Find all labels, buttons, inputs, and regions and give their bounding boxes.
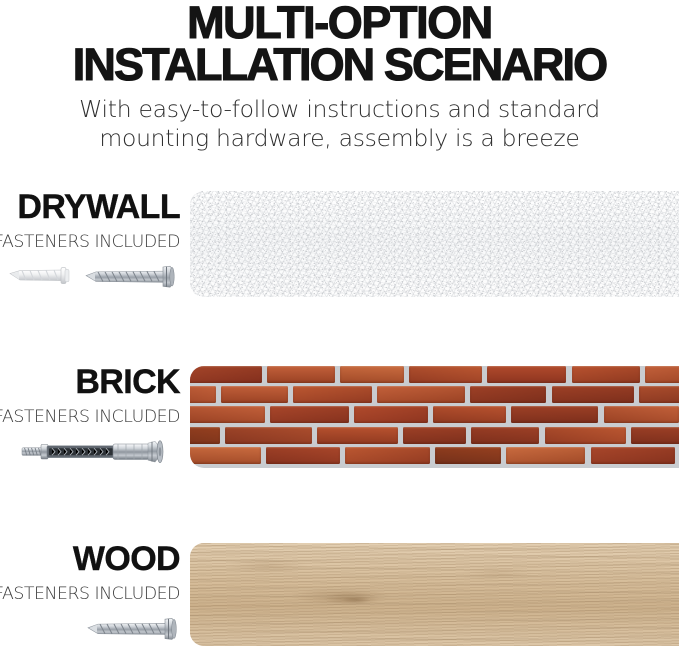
brick-unit [354,406,428,423]
wood-hardware-svg [0,610,182,648]
surface-swatch-drywall [190,191,679,297]
brick-unit [471,427,539,444]
brick-unit [552,386,634,403]
material-section-brick: BRICK FASTENERS INCLUDED [0,363,679,473]
brick-row [190,366,673,384]
brick-unit [572,366,640,383]
brick-unit [511,406,598,423]
wood-label-group: WOOD FASTENERS INCLUDED [0,540,184,650]
brick-unit [267,366,335,383]
brick-unit [190,427,220,444]
brick-row [190,405,673,425]
brick-unit [435,447,501,464]
brick-row [190,446,673,466]
brick-hardware-svg [0,433,182,471]
brick-unit [487,366,566,383]
surface-swatch-wood [190,543,679,646]
brick-unit [604,406,679,423]
hardware-group-brick [0,433,182,471]
surface-swatch-brick [190,366,679,468]
fasteners-included-wood: FASTENERS INCLUDED [0,584,180,604]
brick-unit [190,406,265,423]
brick-unit [377,386,465,403]
hardware-group-drywall [0,258,182,296]
wood-screw-icon [88,618,176,639]
page-subtitle: With easy-to-follow instructions and sta… [0,95,679,153]
drywall-hardware-svg [0,258,182,296]
brick-unit [645,366,679,383]
drywall-texture [190,191,679,297]
brick-texture [190,366,679,468]
material-name-wood: WOOD [73,540,180,578]
wall-anchor-icon [10,268,69,284]
brick-unit [506,447,585,464]
material-name-drywall: DRYWALL [17,188,180,226]
brick-unit [345,447,430,464]
page-title-line-1: MULTI-OPTION [6,2,673,44]
brick-row [190,384,637,404]
brick-unit [403,427,466,444]
brick-unit [225,427,312,444]
drywall-label-group: DRYWALL FASTENERS INCLUDED [0,188,184,298]
brick-unit [190,386,216,403]
sleeve-anchor-bolt-icon [22,441,163,463]
brick-unit [470,386,546,403]
brick-unit [221,386,288,403]
fasteners-included-drywall: FASTENERS INCLUDED [0,232,180,252]
brick-unit [190,366,262,383]
header: MULTI-OPTION INSTALLATION SCENARIO With … [0,0,679,153]
brick-unit [545,427,626,444]
brick-unit [409,366,482,383]
brick-unit [639,386,679,403]
wood-texture [190,543,679,646]
page-title: MULTI-OPTION INSTALLATION SCENARIO [0,2,679,86]
fasteners-included-brick: FASTENERS INCLUDED [0,407,180,427]
brick-unit [340,366,404,383]
material-section-wood: WOOD FASTENERS INCLUDED [0,540,679,650]
hardware-group-wood [0,610,182,648]
brick-unit [293,386,372,403]
brick-unit [270,406,349,423]
brick-row [190,466,637,468]
brick-unit [317,427,398,444]
brick-unit [591,447,675,464]
brick-unit [266,447,340,464]
screw-icon [86,266,174,287]
material-name-brick: BRICK [75,363,180,401]
brick-label-group: BRICK FASTENERS INCLUDED [0,363,184,473]
brick-unit [631,427,679,444]
material-section-drywall: DRYWALL FASTENERS INCLUDED [0,188,679,298]
brick-unit [433,406,506,423]
brick-row [190,425,637,445]
page-title-line-2: INSTALLATION SCENARIO [6,44,673,86]
brick-unit [190,447,261,464]
